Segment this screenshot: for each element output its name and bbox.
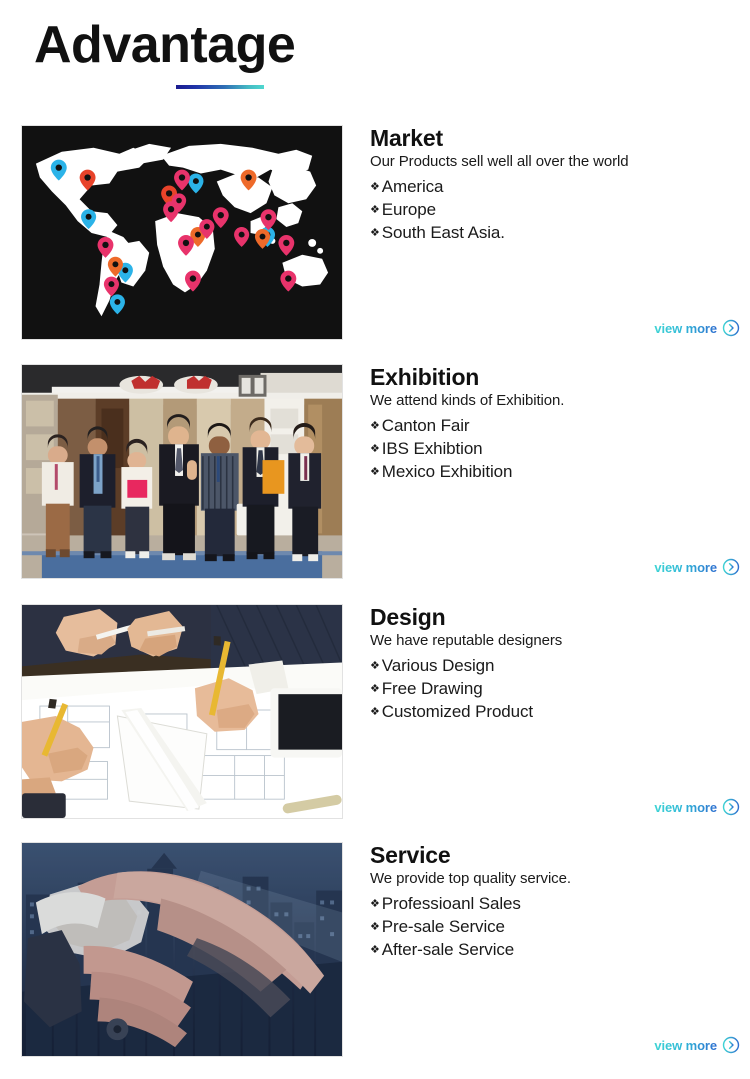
- market-list: ❖America ❖Europe ❖South East Asia.: [370, 175, 740, 245]
- exhibition-title: Exhibition: [370, 364, 740, 390]
- list-item-label: Europe: [382, 198, 436, 221]
- design-body: Design We have reputable designers ❖Vari…: [370, 604, 740, 724]
- view-more-label: view more: [654, 321, 717, 336]
- diamond-bullet-icon: ❖: [370, 226, 380, 241]
- list-item: ❖Various Design: [370, 654, 740, 677]
- advantage-page: Advantage: [0, 0, 750, 1079]
- design-title: Design: [370, 604, 740, 630]
- design-list: ❖Various Design ❖Free Drawing ❖Customize…: [370, 654, 740, 724]
- list-item: ❖After-sale Service: [370, 938, 740, 961]
- market-title: Market: [370, 125, 740, 151]
- list-item: ❖Free Drawing: [370, 677, 740, 700]
- view-more-label: view more: [654, 1038, 717, 1053]
- market-image: [21, 125, 343, 340]
- list-item: ❖Mexico Exhibition: [370, 460, 740, 483]
- list-item: ❖IBS Exhibtion: [370, 437, 740, 460]
- list-item: ❖South East Asia.: [370, 221, 740, 244]
- list-item-label: Pre-sale Service: [382, 915, 505, 938]
- world-map-graphic: [22, 126, 342, 339]
- list-item-label: Free Drawing: [382, 677, 483, 700]
- exhibition-image: [21, 364, 343, 579]
- service-body: Service We provide top quality service. …: [370, 842, 740, 962]
- exhibition-subtitle: We attend kinds of Exhibition.: [370, 391, 740, 411]
- trade-show-photo-graphic: [22, 365, 342, 578]
- diamond-bullet-icon: ❖: [370, 943, 380, 958]
- list-item-label: Various Design: [382, 654, 495, 677]
- list-item-label: Customized Product: [382, 700, 533, 723]
- title-underline-accent: [176, 85, 264, 89]
- list-item-label: America: [382, 175, 444, 198]
- design-subtitle: We have reputable designers: [370, 631, 740, 651]
- handshake-city-photo-graphic: [22, 843, 342, 1056]
- exhibition-list: ❖Canton Fair ❖IBS Exhibtion ❖Mexico Exhi…: [370, 414, 740, 484]
- list-item-label: IBS Exhibtion: [382, 437, 483, 460]
- service-image: [21, 842, 343, 1057]
- chevron-right-circle-icon: [722, 1036, 740, 1054]
- service-list: ❖Professioanl Sales ❖Pre-sale Service ❖A…: [370, 892, 740, 962]
- diamond-bullet-icon: ❖: [370, 180, 380, 195]
- list-item-label: South East Asia.: [382, 221, 505, 244]
- list-item-label: Mexico Exhibition: [382, 460, 513, 483]
- diamond-bullet-icon: ❖: [370, 419, 380, 434]
- design-image: [21, 604, 343, 819]
- service-title: Service: [370, 842, 740, 868]
- diamond-bullet-icon: ❖: [370, 920, 380, 935]
- list-item: ❖Customized Product: [370, 700, 740, 723]
- chevron-right-circle-icon: [722, 558, 740, 576]
- market-subtitle: Our Products sell well all over the worl…: [370, 152, 740, 172]
- service-subtitle: We provide top quality service.: [370, 869, 740, 889]
- diamond-bullet-icon: ❖: [370, 203, 380, 218]
- diamond-bullet-icon: ❖: [370, 705, 380, 720]
- list-item-label: Professioanl Sales: [382, 892, 521, 915]
- list-item-label: After-sale Service: [382, 938, 514, 961]
- blueprint-design-photo-graphic: [22, 605, 342, 818]
- chevron-right-circle-icon: [722, 798, 740, 816]
- diamond-bullet-icon: ❖: [370, 682, 380, 697]
- view-more-link-service[interactable]: view more: [654, 1036, 740, 1054]
- view-more-link-design[interactable]: view more: [654, 798, 740, 816]
- chevron-right-circle-icon: [722, 319, 740, 337]
- market-body: Market Our Products sell well all over t…: [370, 125, 740, 245]
- page-title: Advantage: [34, 18, 295, 73]
- view-more-label: view more: [654, 560, 717, 575]
- list-item: ❖Pre-sale Service: [370, 915, 740, 938]
- view-more-link-exhibition[interactable]: view more: [654, 558, 740, 576]
- list-item-label: Canton Fair: [382, 414, 470, 437]
- list-item: ❖Professioanl Sales: [370, 892, 740, 915]
- diamond-bullet-icon: ❖: [370, 659, 380, 674]
- list-item: ❖Europe: [370, 198, 740, 221]
- diamond-bullet-icon: ❖: [370, 442, 380, 457]
- view-more-label: view more: [654, 800, 717, 815]
- list-item: ❖America: [370, 175, 740, 198]
- diamond-bullet-icon: ❖: [370, 897, 380, 912]
- view-more-link-market[interactable]: view more: [654, 319, 740, 337]
- list-item: ❖Canton Fair: [370, 414, 740, 437]
- diamond-bullet-icon: ❖: [370, 465, 380, 480]
- exhibition-body: Exhibition We attend kinds of Exhibition…: [370, 364, 740, 484]
